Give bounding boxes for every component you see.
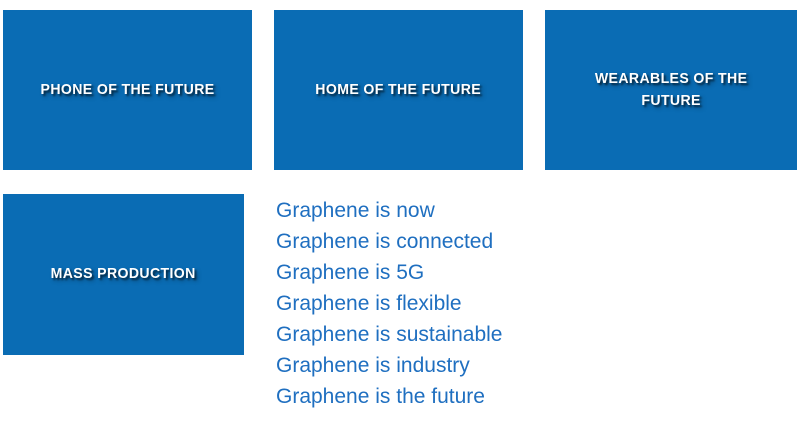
list-item: Graphene is flexible bbox=[276, 288, 576, 319]
list-item: Graphene is the future bbox=[276, 381, 576, 412]
list-item: Graphene is sustainable bbox=[276, 319, 576, 350]
tile-mass-production-label: MASS PRODUCTION bbox=[51, 264, 196, 284]
tagline-list: Graphene is now Graphene is connected Gr… bbox=[276, 195, 576, 412]
tile-phone-of-the-future[interactable]: PHONE OF THE FUTURE bbox=[3, 10, 252, 170]
tile-wearables-of-the-future-label: WEARABLES OF THE FUTURE bbox=[595, 68, 748, 112]
list-item: Graphene is 5G bbox=[276, 257, 576, 288]
tile-home-of-the-future-label: HOME OF THE FUTURE bbox=[316, 80, 482, 100]
slide-canvas: PHONE OF THE FUTURE HOME OF THE FUTURE W… bbox=[0, 0, 797, 426]
tile-home-of-the-future[interactable]: HOME OF THE FUTURE bbox=[274, 10, 523, 170]
list-item: Graphene is industry bbox=[276, 350, 576, 381]
tile-mass-production[interactable]: MASS PRODUCTION bbox=[3, 194, 244, 355]
list-item: Graphene is now bbox=[276, 195, 576, 226]
tile-wearables-of-the-future[interactable]: WEARABLES OF THE FUTURE bbox=[545, 10, 797, 170]
list-item: Graphene is connected bbox=[276, 226, 576, 257]
tile-phone-of-the-future-label: PHONE OF THE FUTURE bbox=[40, 80, 214, 100]
